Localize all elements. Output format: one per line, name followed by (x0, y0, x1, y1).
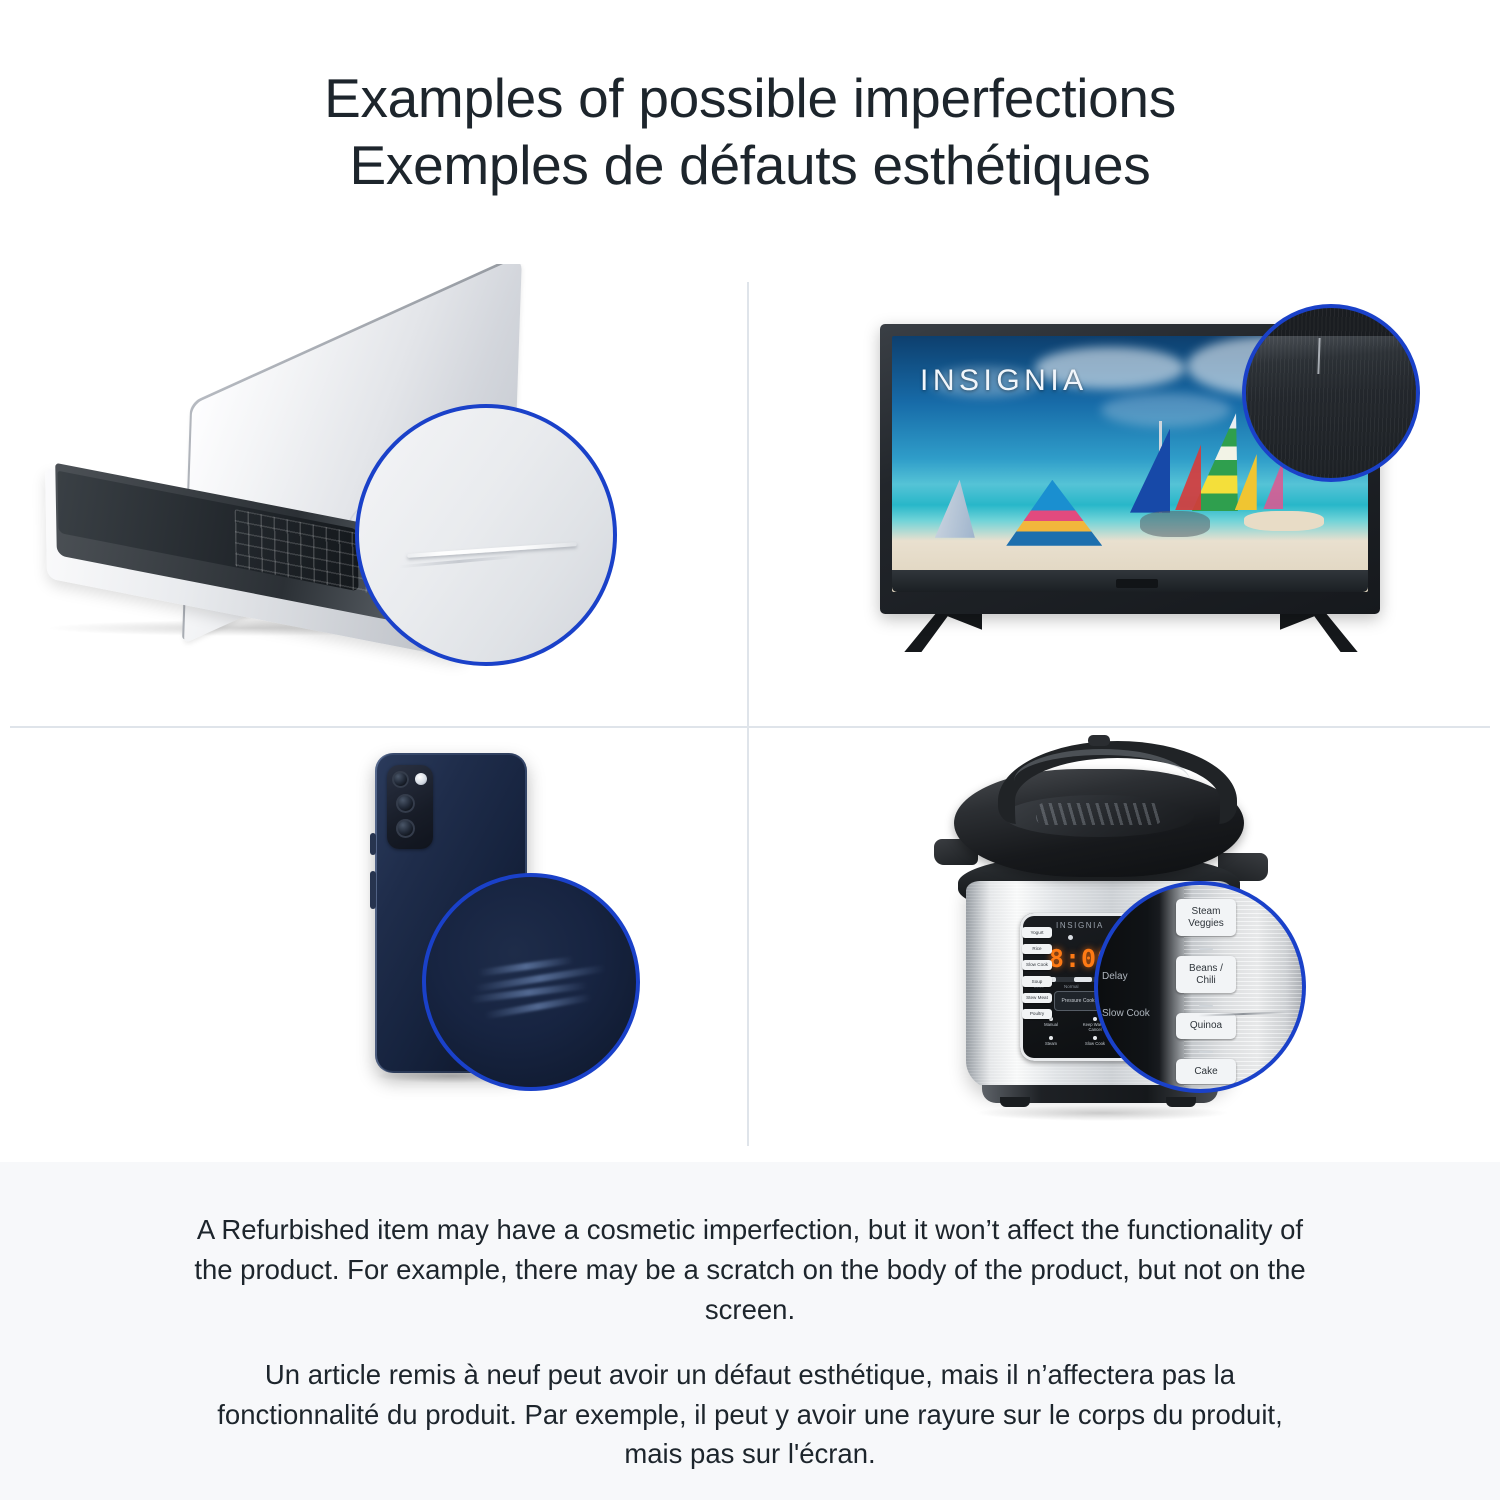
panel-smartphone (0, 713, 750, 1162)
cooker-steam-valve-icon (1088, 735, 1110, 746)
phone-camera-module (387, 765, 433, 849)
button-divider (1199, 1051, 1213, 1053)
camera-lens-icon (396, 794, 415, 813)
tv-brand-logo: INSIGNIA (920, 364, 1088, 398)
zoom-label-slow-cook: Slow Cook (1102, 1008, 1164, 1019)
magnifier-cooker-scratch: Delay Slow Cook Steam Veggies Beans / Ch… (1094, 881, 1306, 1093)
cooker-left-button-column: Yogurt Rice Slow Cook Soup Stew Meat Pou… (1022, 927, 1052, 1025)
phone-power-button (370, 871, 376, 909)
panel-pressure-cooker: INSIGNIA 8:00 Less Normal More − Pressur… (750, 713, 1500, 1162)
disclaimer-section: A Refurbished item may have a cosmetic i… (0, 1162, 1500, 1500)
television-illustration: INSIGNIA (870, 302, 1490, 692)
magnifier-tv-corner-scuff (1242, 304, 1420, 482)
cooker-program-button[interactable]: Slow Cook (1022, 960, 1052, 970)
mode-label: Steam (1045, 1042, 1057, 1047)
bar-label-normal: Normal (1064, 984, 1079, 989)
beach-tent-left (935, 480, 975, 538)
cooker-program-button-zoom[interactable]: Beans / Chili (1176, 956, 1236, 993)
disclaimer-text-en: A Refurbished item may have a cosmetic i… (190, 1210, 1310, 1329)
cooker-program-button[interactable]: Yogurt (1022, 927, 1052, 937)
cooker-foot-right (1166, 1097, 1196, 1107)
cooker-foot-left (1000, 1097, 1030, 1107)
disclaimer-text-fr: Un article remis à neuf peut avoir un dé… (190, 1355, 1310, 1474)
pressure-cooker-illustration: INSIGNIA 8:00 Less Normal More − Pressur… (930, 733, 1350, 1133)
magnifier-phone-scratches (422, 873, 640, 1091)
product-examples-grid: INSIGNIA (0, 264, 1500, 1162)
cooker-program-button-zoom[interactable]: Quinoa (1176, 1013, 1236, 1039)
cloud-shape (1101, 393, 1231, 427)
laptop-illustration (40, 324, 600, 654)
tv-leg-right (1280, 610, 1358, 652)
sail-blue (1130, 429, 1170, 513)
laptop-scratch-mark (407, 542, 577, 558)
cooker-program-button-zoom[interactable]: Steam Veggies (1176, 899, 1236, 936)
cooker-program-button[interactable]: Rice (1022, 944, 1052, 954)
cooker-zoom-button-column: Steam Veggies Beans / Chili Quinoa Cake (1176, 899, 1236, 1093)
beach-tent-center (1006, 480, 1102, 546)
cooker-program-button[interactable]: Stew Meat (1022, 993, 1052, 1003)
cooker-program-button[interactable]: Soup (1022, 976, 1052, 986)
tv-bezel-texture (1246, 308, 1416, 478)
cooker-shadow (974, 1105, 1230, 1121)
refurbished-imperfections-infographic: Examples of possible imperfections Exemp… (0, 0, 1500, 1500)
bar-segment (1074, 977, 1092, 982)
tv-ir-sensor-icon (1116, 579, 1158, 588)
zoom-label-delay: Delay (1102, 971, 1164, 982)
cooker-zoom-left-labels: Delay Slow Cook (1102, 971, 1164, 1045)
cooker-indicator-led (1068, 935, 1073, 940)
tv-leg-left (904, 610, 982, 652)
page-title-fr: Exemples de défauts esthétiques (350, 132, 1151, 199)
camera-lens-icon (396, 819, 415, 838)
sail-red (1175, 444, 1201, 510)
camera-flash-icon (415, 773, 427, 785)
smartphone-illustration (315, 743, 735, 1133)
page-header: Examples of possible imperfections Exemp… (0, 0, 1500, 264)
panel-laptop (0, 264, 750, 713)
page-title-en: Examples of possible imperfections (324, 65, 1176, 132)
magnifier-laptop-scratch (355, 404, 617, 666)
button-divider (1199, 1005, 1213, 1007)
beach-object (1244, 511, 1324, 531)
panel-television: INSIGNIA (750, 264, 1500, 713)
cooker-program-button[interactable]: Poultry (1022, 1009, 1052, 1019)
beach-object (1140, 511, 1210, 537)
camera-lens-icon (392, 771, 409, 788)
cooker-program-button-zoom[interactable]: Cake (1176, 1059, 1236, 1085)
cooker-brand-logo: INSIGNIA (1056, 921, 1104, 930)
phone-volume-button (370, 833, 376, 855)
cooker-mode-button[interactable]: Steam (1032, 1036, 1070, 1046)
button-divider (1199, 948, 1213, 950)
